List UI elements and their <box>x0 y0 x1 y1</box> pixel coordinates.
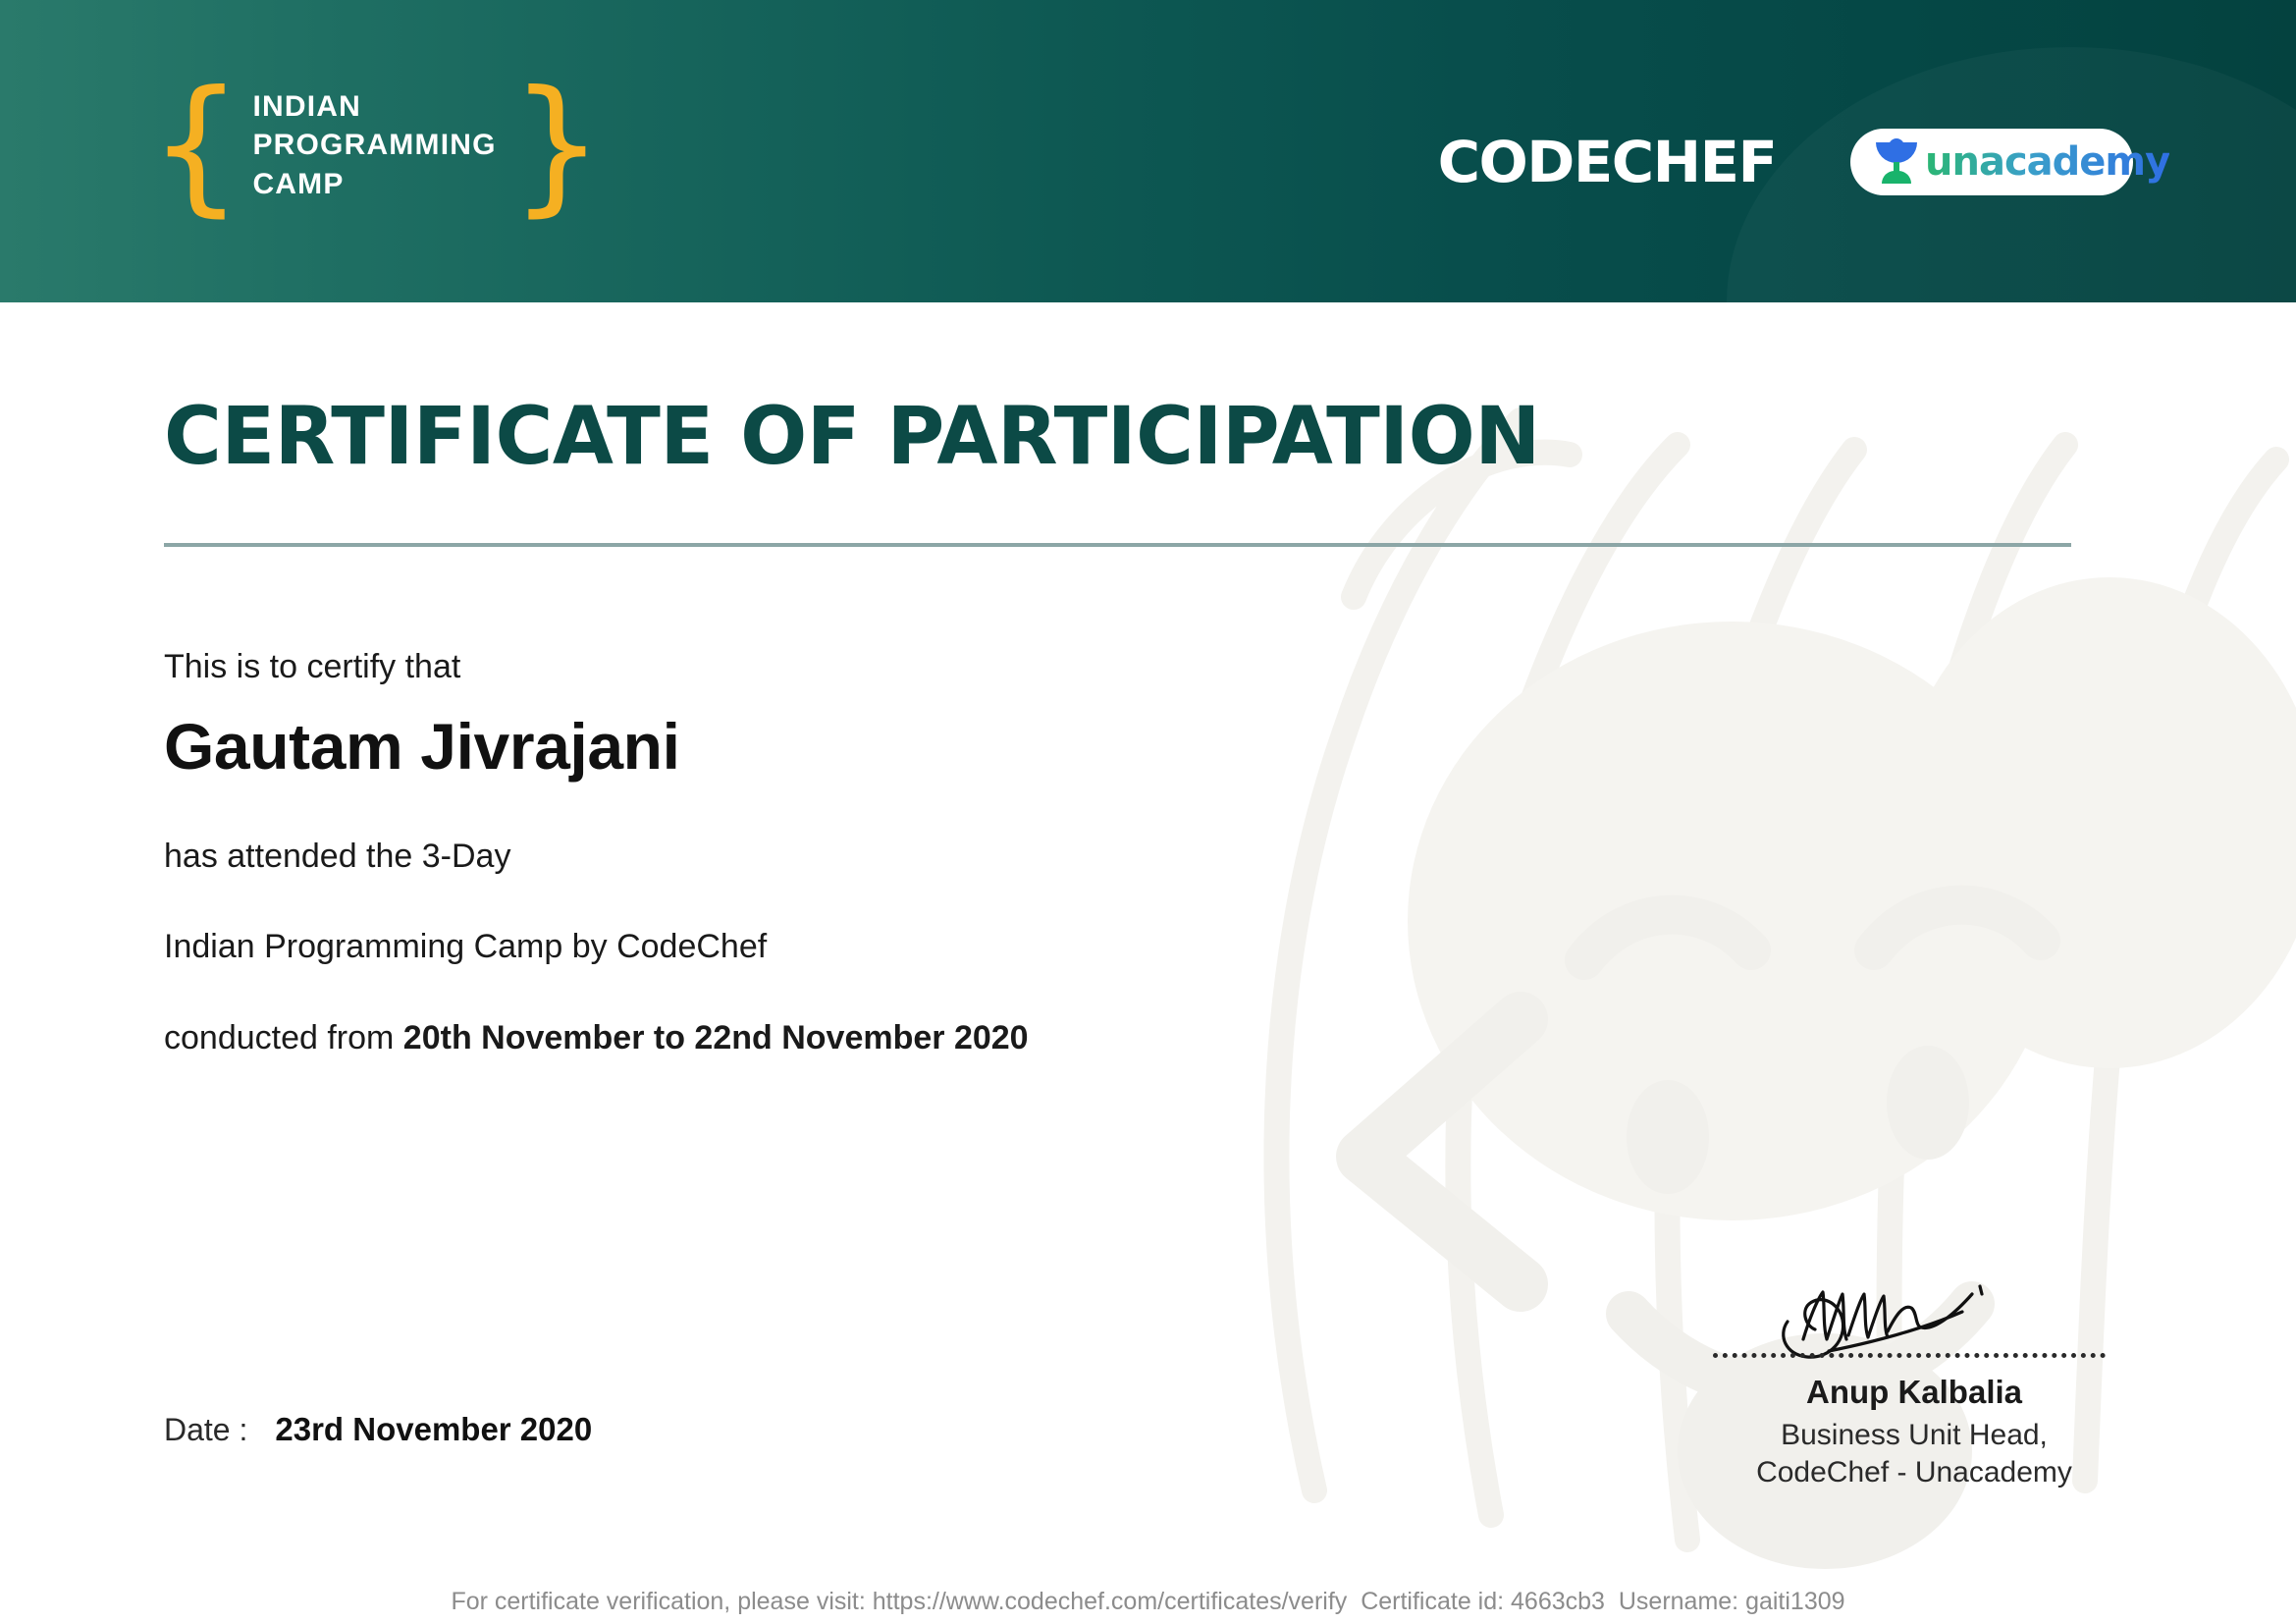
footer-verification: For certificate verification, please vis… <box>0 1588 2296 1616</box>
unacademy-glass-icon <box>1876 140 1917 184</box>
event-name-line: Indian Programming Camp by CodeChef <box>164 928 767 966</box>
attended-line: has attended the 3-Day <box>164 838 510 876</box>
date-label: Date : <box>164 1412 247 1448</box>
ipc-logo-text: INDIAN PROGRAMMING CAMP <box>252 87 496 204</box>
signatory-name: Anup Kalbalia <box>1713 1374 2115 1411</box>
conducted-line: conducted from 20th November to 22nd Nov… <box>164 1019 1029 1057</box>
date-value: 23rd November 2020 <box>275 1411 592 1448</box>
page-title: CERTIFICATE OF PARTICIPATION <box>164 391 1540 483</box>
title-divider <box>164 543 2071 547</box>
recipient-name: Gautam Jivrajani <box>164 709 680 784</box>
footer-verification-text: For certificate verification, please vis… <box>451 1588 1347 1615</box>
signature-block: Anup Kalbalia Business Unit Head, CodeCh… <box>1713 1286 2115 1489</box>
certificate-page: { INDIAN PROGRAMMING CAMP } CODECHEF una… <box>0 0 2296 1624</box>
unacademy-wordmark: unacademy <box>1925 139 2169 185</box>
ipc-logo-line-2: PROGRAMMING <box>252 126 496 165</box>
ipc-logo-line-1: INDIAN <box>252 87 496 127</box>
conducted-dates: 20th November to 22nd November 2020 <box>403 1019 1029 1056</box>
unacademy-logo: unacademy <box>1850 129 2133 195</box>
footer-certificate-id: Certificate id: 4663cb3 <box>1361 1588 1605 1615</box>
brace-right-icon: } <box>510 85 604 206</box>
date-block: Date : 23rd November 2020 <box>164 1411 592 1448</box>
signature-line <box>1713 1347 2106 1358</box>
codechef-logo: CODECHEF <box>1438 129 1777 195</box>
conducted-prefix: conducted from <box>164 1019 403 1056</box>
indian-programming-camp-logo: { INDIAN PROGRAMMING CAMP } <box>149 77 604 214</box>
ipc-logo-line-3: CAMP <box>252 165 496 204</box>
footer-username: Username: gaiti1309 <box>1619 1588 1845 1615</box>
signatory-role-line-1: Business Unit Head, <box>1713 1419 2115 1452</box>
signatory-role-line-2: CodeChef - Unacademy <box>1713 1456 2115 1489</box>
brace-left-icon: { <box>149 85 242 206</box>
intro-line: This is to certify that <box>164 648 460 686</box>
